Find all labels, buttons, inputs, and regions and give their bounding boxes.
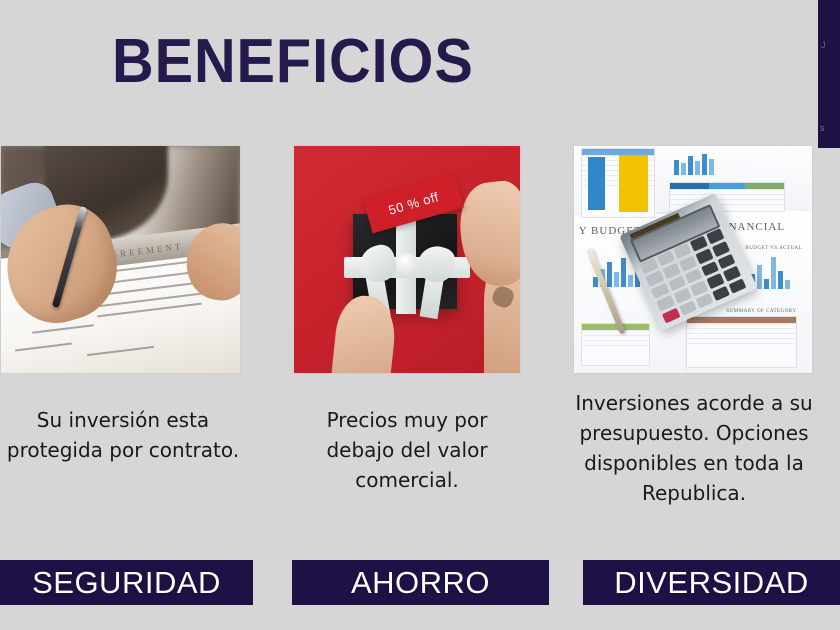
- corner-text-fragment-top: J: [821, 38, 826, 52]
- table-row: [687, 343, 796, 348]
- discount-tag-text: 50 % off: [387, 188, 441, 217]
- report-heading-summary: SUMMARY OF CATEGORY: [726, 309, 796, 314]
- banner-seguridad[interactable]: SEGURIDAD: [0, 560, 253, 605]
- banner-label-diversidad: DIVERSIDAD: [614, 567, 808, 598]
- discount-gift-box-photo: 50 % off: [293, 145, 521, 374]
- caption-seguridad: Su inversión esta protegida por contrato…: [0, 405, 246, 465]
- table-blue-column: [588, 157, 605, 209]
- page-title: BENEFICIOS: [112, 26, 474, 98]
- caption-ahorro: Precios muy por debajo del valor comerci…: [292, 405, 522, 495]
- financial-reports-photo: Y BUDGET FINANCIAL BUDGET VS ACTUAL SUMM…: [573, 145, 813, 374]
- caption-diversidad: Inversiones acorde a su presupuesto. Opc…: [568, 388, 820, 508]
- banner-ahorro[interactable]: AHORRO: [292, 560, 549, 605]
- banner-label-seguridad: SEGURIDAD: [32, 567, 221, 598]
- table-yellow-column: [619, 155, 648, 212]
- banner-label-ahorro: AHORRO: [351, 567, 490, 598]
- data-table: [686, 316, 797, 368]
- banner-diversidad[interactable]: DIVERSIDAD: [583, 560, 840, 605]
- corner-text-fragment-bottom: s: [820, 122, 825, 134]
- slide-canvas: BENEFICIOS J s AGREEMENT: [0, 0, 840, 630]
- contract-signing-photo: AGREEMENT: [0, 145, 241, 374]
- table-row: [582, 345, 649, 350]
- corner-accent-block: J s: [818, 0, 840, 148]
- data-table: [581, 323, 650, 366]
- bar-chart-top: [674, 153, 714, 176]
- report-heading-budget-vs-actual: BUDGET VS ACTUAL: [745, 246, 802, 251]
